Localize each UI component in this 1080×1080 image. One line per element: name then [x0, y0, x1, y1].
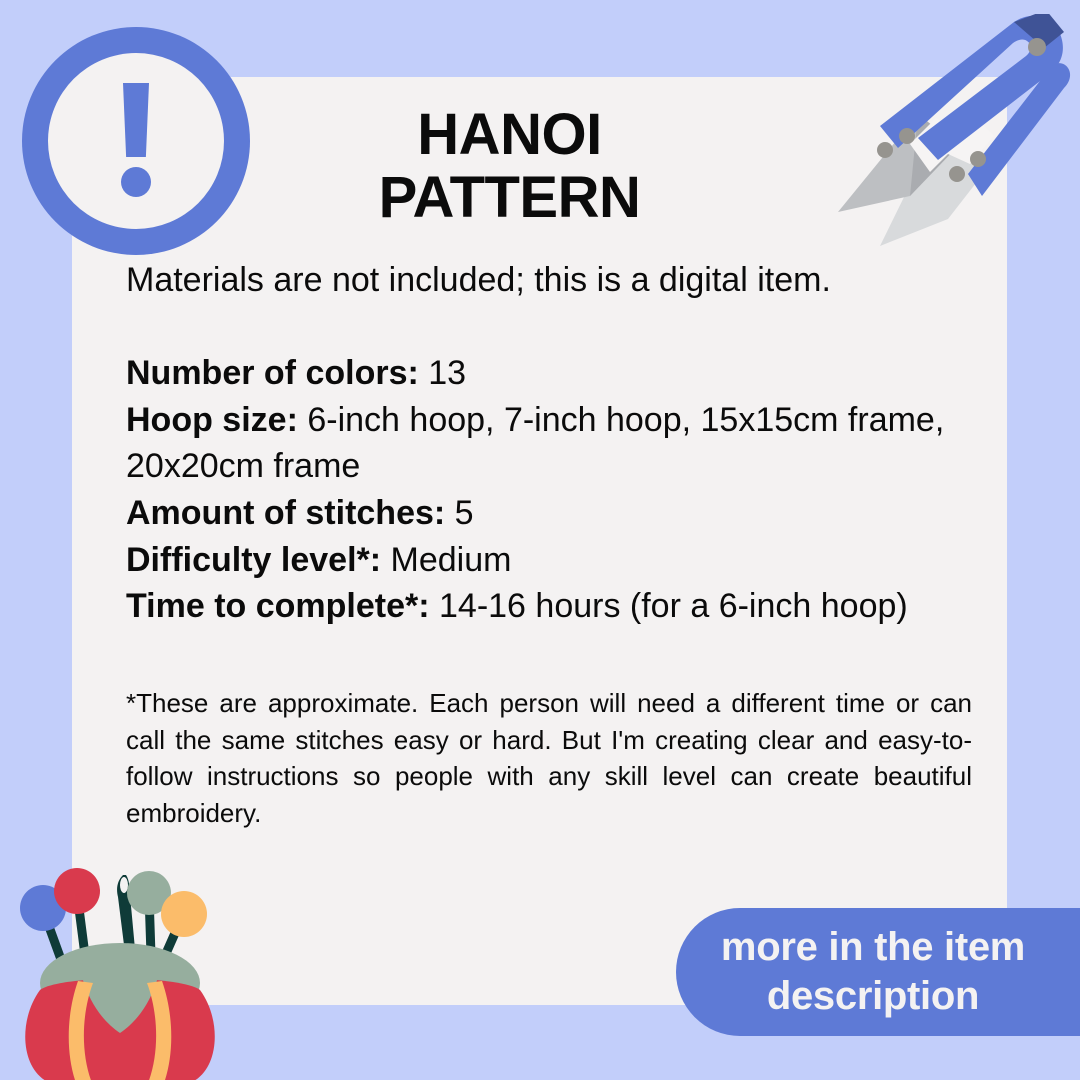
- exclamation-dot: [121, 167, 151, 197]
- spec-row-stitches: Amount of stitches: 5: [126, 490, 972, 537]
- spec-row-difficulty: Difficulty level*: Medium: [126, 537, 972, 584]
- cta-line-2: description: [721, 972, 1025, 1021]
- spec-value-stitches: 5: [455, 494, 474, 532]
- cta-label: more in the item description: [721, 923, 1025, 1021]
- exclamation-bar: [123, 83, 149, 157]
- pincushion-svg: [10, 855, 230, 1080]
- snips-rivet-2: [899, 128, 915, 144]
- pincushion-with-pins-icon: [10, 855, 230, 1080]
- thread-snips-icon: [818, 14, 1076, 264]
- spec-row-colors: Number of colors: 13: [126, 350, 972, 397]
- spec-label-time: Time to complete*:: [126, 587, 430, 625]
- spec-label-difficulty: Difficulty level*:: [126, 541, 381, 579]
- spec-label-colors: Number of colors:: [126, 354, 419, 392]
- cta-line-1: more in the item: [721, 923, 1025, 972]
- snips-rivet-5: [949, 166, 965, 182]
- more-in-item-description-button[interactable]: more in the item description: [676, 908, 1080, 1036]
- exclamation-circle-icon: [22, 27, 250, 255]
- content-body: Materials are not included; this is a di…: [126, 258, 972, 832]
- spec-label-stitches: Amount of stitches:: [126, 494, 445, 532]
- snips-rivet-3: [877, 142, 893, 158]
- spec-row-hoop: Hoop size: 6-inch hoop, 7-inch hoop, 15x…: [126, 397, 972, 490]
- pin-head-orange: [161, 891, 207, 937]
- spec-value-difficulty: Medium: [391, 541, 512, 579]
- spec-list: Number of colors: 13 Hoop size: 6-inch h…: [126, 350, 972, 629]
- thread-snips-svg: [818, 14, 1076, 264]
- spec-value-time: 14-16 hours (for a 6-inch hoop): [439, 587, 908, 625]
- spec-value-colors: 13: [428, 354, 466, 392]
- spec-row-time: Time to complete*: 14-16 hours (for a 6-…: [126, 583, 972, 630]
- pin-head-red: [54, 868, 100, 914]
- needle-eye: [120, 877, 128, 893]
- snips-rivet-4: [970, 151, 986, 167]
- spec-label-hoop: Hoop size:: [126, 401, 298, 439]
- footnote-text: *These are approximate. Each person will…: [126, 685, 972, 833]
- intro-text: Materials are not included; this is a di…: [126, 258, 972, 302]
- snips-rivet-1: [1028, 38, 1046, 56]
